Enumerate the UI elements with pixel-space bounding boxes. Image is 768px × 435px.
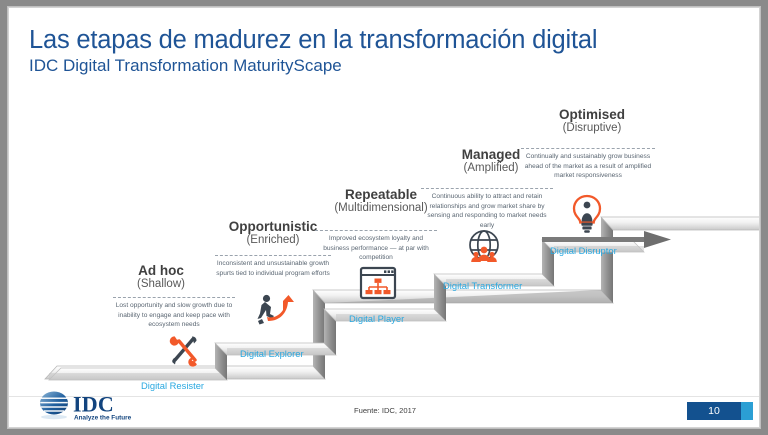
svg-text:Analyze the Future: Analyze the Future (74, 415, 132, 422)
stage-heading-ad-hoc: Ad hoc (Shallow) (105, 264, 217, 291)
page-number-badge: 10 (687, 402, 741, 420)
stage-description-repeatable: Improved ecosystem loyalty and business … (315, 230, 437, 263)
source-note: Fuente: IDC, 2017 (9, 406, 760, 415)
stage-title: Ad hoc (105, 264, 217, 278)
dashed-divider (421, 188, 553, 189)
stage-qualifier: (Shallow) (105, 278, 217, 291)
stage-heading-optimised: Optimised (Disruptive) (532, 108, 652, 135)
step-label-digital-explorer: Digital Explorer (240, 348, 304, 359)
step-label-digital-transformer: Digital Transformer (443, 280, 522, 291)
dashed-divider (113, 297, 235, 298)
stage-title: Optimised (532, 108, 652, 122)
stage-description-ad-hoc: Lost opportunity and slow growth due to … (113, 297, 235, 330)
stage-description-opportunistic: Inconsistent and unsustainable growth sp… (215, 255, 331, 278)
staircase-shape (9, 8, 760, 428)
slide-canvas: Las etapas de madurez en la transformaci… (8, 7, 760, 428)
stage-qualifier: (Disruptive) (532, 122, 652, 135)
step-label-digital-disruptor: Digital Disruptor (550, 245, 617, 256)
stage-description-managed: Continuous ability to attract and retain… (421, 188, 553, 230)
stage-description-optimised: Continually and sustainably grow busines… (521, 148, 655, 181)
dashed-divider (521, 148, 655, 149)
step-label-digital-player: Digital Player (349, 313, 404, 324)
step-label-digital-resister: Digital Resister (141, 380, 204, 391)
dashed-divider (315, 230, 437, 231)
page-number: 10 (708, 405, 720, 417)
dashed-divider (215, 255, 331, 256)
maturity-staircase: Ad hoc (Shallow) Lost opportunity and sl… (9, 8, 760, 428)
